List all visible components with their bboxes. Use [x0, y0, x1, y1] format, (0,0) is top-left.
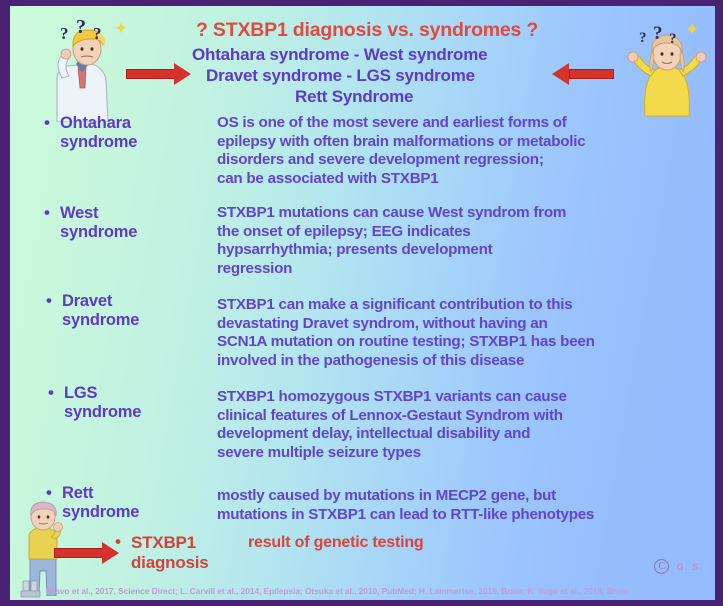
syndrome-label-text: Dravet syndrome [62, 292, 139, 329]
question-mark-icon: ? [76, 16, 86, 39]
page-title: ? STXBP1 diagnosis vs. syndromes ? [196, 19, 538, 42]
syndrome-label-ohtahara: • Ohtahara syndrome [60, 114, 180, 152]
syndrome-label-dravet: • Dravet syndrome [62, 292, 182, 330]
subtitle-line-2: Dravet syndrome - LGS syndrome [206, 66, 475, 86]
bullet-icon: • [46, 483, 52, 502]
bullet-icon: • [44, 113, 50, 132]
conclusion-label: • STXBP1 diagnosis [131, 533, 251, 573]
footnote-figure-icon [20, 580, 42, 598]
bullet-icon: • [44, 203, 50, 222]
syndrome-description-rett: mostly caused by mutations in MECP2 gene… [217, 487, 715, 524]
footer-bar: Bravo et al., 2017, Science Direct; L. C… [10, 578, 715, 600]
syndrome-label-lgs: • LGS syndrome [64, 384, 184, 422]
slide-border: ? ? ? ✦ ? ? ? ✦ [0, 0, 723, 606]
question-mark-icon: ? [60, 24, 69, 44]
syndrome-description-ohtahara: OS is one of the most severe and earlies… [217, 114, 715, 188]
syndrome-description-dravet: STXBP1 can make a significant contributi… [217, 296, 715, 370]
copyright-block: C G. S. [654, 559, 703, 574]
syndrome-label-west: • West syndrome [60, 204, 180, 242]
subtitle-line-1: Ohtahara syndrome - West syndrome [192, 45, 487, 65]
syndrome-label-text: Ohtahara syndrome [60, 114, 137, 151]
bullet-icon: • [115, 532, 121, 552]
question-mark-icon: ? [93, 24, 102, 44]
copyright-icon: C [654, 559, 669, 574]
syndrome-description-lgs: STXBP1 homozygous STXBP1 variants can ca… [217, 388, 715, 462]
conclusion-text: result of genetic testing [248, 534, 423, 552]
bullet-icon: • [48, 383, 54, 402]
copyright-initials: G. S. [676, 562, 703, 572]
confused-man-illustration: ? ? ? ✦ [32, 14, 132, 122]
syndrome-label-text: West syndrome [60, 204, 137, 241]
conclusion-label-text: STXBP1 diagnosis [131, 533, 209, 572]
question-mark-icon: ? [653, 23, 663, 45]
syndrome-label-text: LGS syndrome [64, 384, 141, 421]
question-mark-icon: ? [639, 30, 647, 47]
sparkle-icon: ✦ [114, 19, 128, 39]
confused-woman-illustration: ? ? ? ✦ [617, 16, 715, 121]
sparkle-icon: ✦ [685, 20, 699, 40]
woman-figure-svg [617, 16, 715, 121]
subtitle-line-3: Rett Syndrome [295, 87, 413, 107]
syndrome-description-west: STXBP1 mutations can cause West syndrom … [217, 204, 715, 278]
question-mark-icon: ? [669, 31, 677, 48]
slide-canvas: ? ? ? ✦ ? ? ? ✦ [10, 6, 715, 600]
bullet-icon: • [46, 291, 52, 310]
citation-text: Bravo et al., 2017, Science Direct; L. C… [46, 586, 628, 596]
syndrome-label-rett: • Rett syndrome [62, 484, 182, 522]
